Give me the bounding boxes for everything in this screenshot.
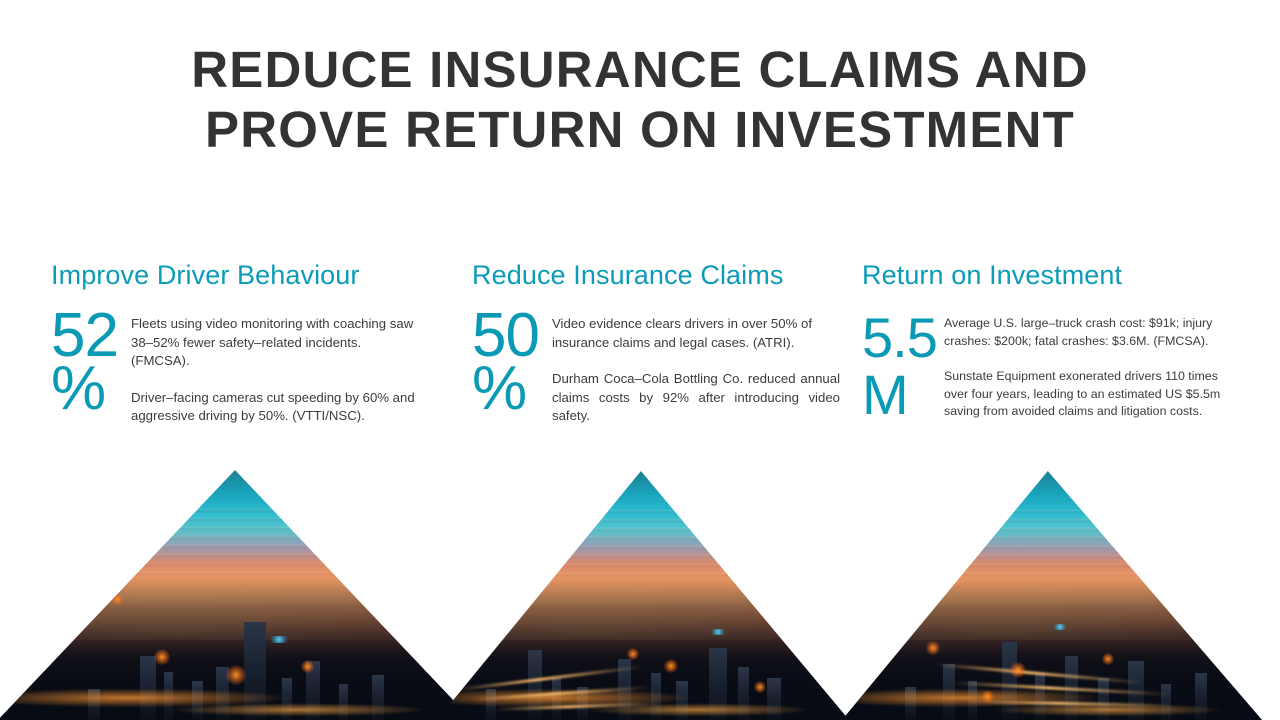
city-skyline-triangle-right: [842, 471, 1262, 720]
neon-sign-glow: [268, 636, 290, 643]
street-light-glow: [627, 648, 639, 660]
column-heading: Improve Driver Behaviour: [51, 258, 420, 292]
street-light-glow: [1010, 662, 1026, 678]
page-title: REDUCE INSURANCE CLAIMS AND PROVE RETURN…: [0, 40, 1280, 160]
big-stat-line-2: %: [51, 362, 131, 415]
cloud-bands: [842, 506, 1262, 581]
slide-root: REDUCE INSURANCE CLAIMS AND PROVE RETURN…: [0, 0, 1280, 720]
stat-column-improve-driver-behaviour: Improve Driver Behaviour 52 % Fleets usi…: [0, 258, 420, 426]
street-light-glow: [664, 659, 678, 673]
city-skyline-triangle-center: [437, 471, 849, 720]
title-line-1: REDUCE INSURANCE CLAIMS AND: [0, 40, 1280, 100]
column-heading: Reduce Insurance Claims: [472, 258, 840, 292]
neon-sign-glow: [1052, 624, 1068, 630]
traffic-signal-glow: [981, 690, 994, 703]
big-stat-number: 5.5 M: [862, 309, 944, 423]
street-light-glow: [112, 594, 123, 605]
fact-list: Fleets using video monitoring with coach…: [131, 309, 420, 426]
stats-columns: Improve Driver Behaviour 52 % Fleets usi…: [0, 258, 1280, 426]
big-stat-line-2: M: [862, 366, 944, 423]
stat-column-reduce-insurance-claims: Reduce Insurance Claims 50 % Video evide…: [420, 258, 840, 426]
road-light-glow: [842, 635, 1262, 720]
fact-item: Driver–facing cameras cut speeding by 60…: [131, 389, 420, 426]
neon-sign-glow: [709, 629, 727, 635]
cloud-bands: [437, 506, 849, 581]
stat-row: 52 % Fleets using video monitoring with …: [51, 309, 420, 426]
fact-item: Sunstate Equipment exonerated drivers 11…: [944, 368, 1240, 421]
city-skyline-triangle-left: [0, 470, 472, 720]
big-stat-number: 50 %: [472, 309, 552, 426]
column-heading: Return on Investment: [862, 258, 1240, 292]
decorative-triangle-band: [0, 470, 1280, 720]
fact-list: Average U.S. large–truck crash cost: $91…: [944, 309, 1240, 423]
stat-row: 5.5 M Average U.S. large–truck crash cos…: [862, 309, 1240, 423]
street-light-glow: [449, 645, 467, 663]
big-stat-line-2: %: [472, 362, 552, 415]
fact-list: Video evidence clears drivers in over 50…: [552, 309, 840, 426]
street-light-glow: [226, 665, 246, 685]
big-stat-number: 52 %: [51, 309, 131, 426]
big-stat-line-1: 5.5: [862, 309, 944, 366]
title-line-2: PROVE RETURN ON INVESTMENT: [0, 100, 1280, 160]
street-light-glow: [754, 681, 766, 693]
street-light-glow: [301, 660, 314, 673]
fact-item: Fleets using video monitoring with coach…: [131, 315, 420, 371]
fact-item: Durham Coca–Cola Bottling Co. reduced an…: [552, 370, 840, 426]
stat-column-return-on-investment: Return on Investment 5.5 M Average U.S. …: [840, 258, 1240, 426]
cloud-bands: [0, 505, 472, 580]
fact-item: Average U.S. large–truck crash cost: $91…: [944, 315, 1240, 350]
stat-row: 50 % Video evidence clears drivers in ov…: [472, 309, 840, 426]
fact-item: Video evidence clears drivers in over 50…: [552, 315, 840, 352]
